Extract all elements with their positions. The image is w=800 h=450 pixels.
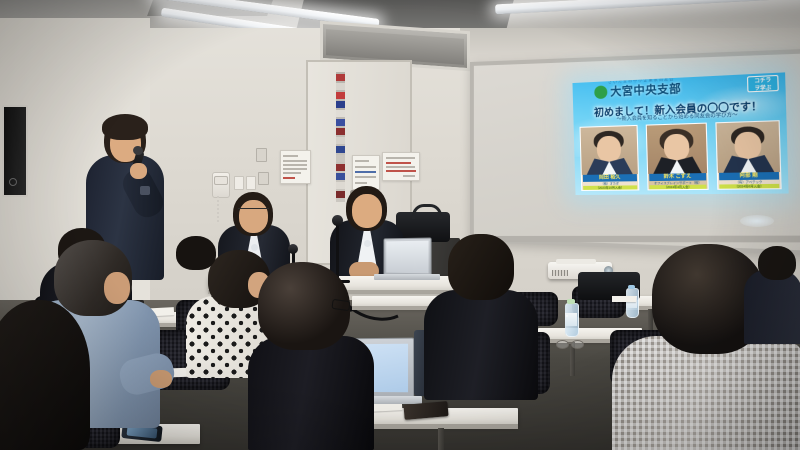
attendee-black-center-body <box>424 290 538 400</box>
control-panel-2[interactable] <box>256 148 267 162</box>
light-switch-panel-2[interactable] <box>246 176 256 190</box>
whiteboard-glare <box>740 215 774 227</box>
microphone-head <box>332 215 343 226</box>
bag-handle <box>412 204 442 219</box>
panelist-left-badge <box>251 244 258 251</box>
attendee-rear-small-head <box>176 236 216 270</box>
attendee-far-right-head <box>758 246 796 280</box>
projector-vent <box>552 270 568 276</box>
notice-poster-right <box>382 152 420 181</box>
portrait-face <box>734 131 761 159</box>
slide-person-card-2: 鈴木 こずえ オフィスブレインサポート（株） （2024年4月入会） <box>646 123 709 191</box>
presenter-laptop-screen <box>386 241 428 274</box>
slide-person-card-3: 阿部 剛 （有）アベテック （2024年6月入会） <box>715 120 781 190</box>
standing-speaker-pocket <box>140 186 150 195</box>
intercom-handset[interactable] <box>214 176 228 185</box>
door-notice-strip <box>336 72 345 202</box>
desk-leg <box>438 428 444 450</box>
slide-badge-line2: ヲ学ぶ <box>754 84 771 91</box>
intercom-cord <box>217 196 224 222</box>
attendee-blue-shirt-hand <box>150 370 172 388</box>
portrait-face <box>597 136 622 163</box>
projected-slide: さいたま市中小企業家同友会 大宮中央支部 コチラ ヲ学ぶ 初めまして！新入会員の… <box>572 72 788 195</box>
slide-badge: コチラ ヲ学ぶ <box>747 75 779 93</box>
panelist-left-face <box>239 200 268 233</box>
notice-poster-left <box>280 150 311 184</box>
panelist-right-badge <box>364 240 371 247</box>
slide-portrait-1 <box>581 126 638 175</box>
water-bottle-spacer <box>566 315 568 317</box>
panelist-right-face <box>352 194 382 228</box>
panelist-glasses-icon <box>238 208 269 216</box>
standing-speaker-hand <box>130 163 147 179</box>
seminar-room-photo: さいたま市中小企業家同友会 大宮中央支部 コチラ ヲ学ぶ 初めまして！新入会員の… <box>0 0 800 450</box>
portrait-face <box>664 134 690 162</box>
attendee-black-center-head <box>448 234 514 300</box>
handout-paper-4 <box>612 296 636 302</box>
slide-brand-name: 大宮中央支部 <box>610 80 681 100</box>
slide-person-caption-2: （2024年4月入会） <box>649 185 706 190</box>
light-switch-panel[interactable] <box>234 176 244 190</box>
attendee-far-left-head <box>0 300 90 450</box>
slide-portrait-3 <box>716 121 780 173</box>
attendee-black-front-body <box>248 336 374 450</box>
microphone-head-2 <box>288 244 298 254</box>
whiteboard-tray <box>472 236 800 243</box>
pa-speaker-logo-icon <box>9 178 17 186</box>
notice-poster-center <box>352 155 380 190</box>
eyeglasses <box>556 340 584 348</box>
projector-top <box>556 259 596 264</box>
standing-speaker-hair <box>102 114 148 140</box>
presenter-laptop-base <box>374 274 440 280</box>
attendee-blue-shirt-ear <box>104 272 130 304</box>
attendee-far-right-body <box>744 270 800 344</box>
water-bottle-2-cap <box>628 285 635 289</box>
slide-portrait-2 <box>647 124 707 174</box>
slide-person-caption-1: （2023年10月入会） <box>583 185 637 190</box>
control-panel[interactable] <box>258 172 269 185</box>
slide-person-caption-3: （2024年6月入会） <box>719 184 779 189</box>
slide-person-card-1: 岡田 裕久 （株）オカダ （2023年10月入会） <box>580 125 640 191</box>
water-bottle-1-cap <box>567 299 575 304</box>
leaf-logo-icon <box>594 85 607 99</box>
